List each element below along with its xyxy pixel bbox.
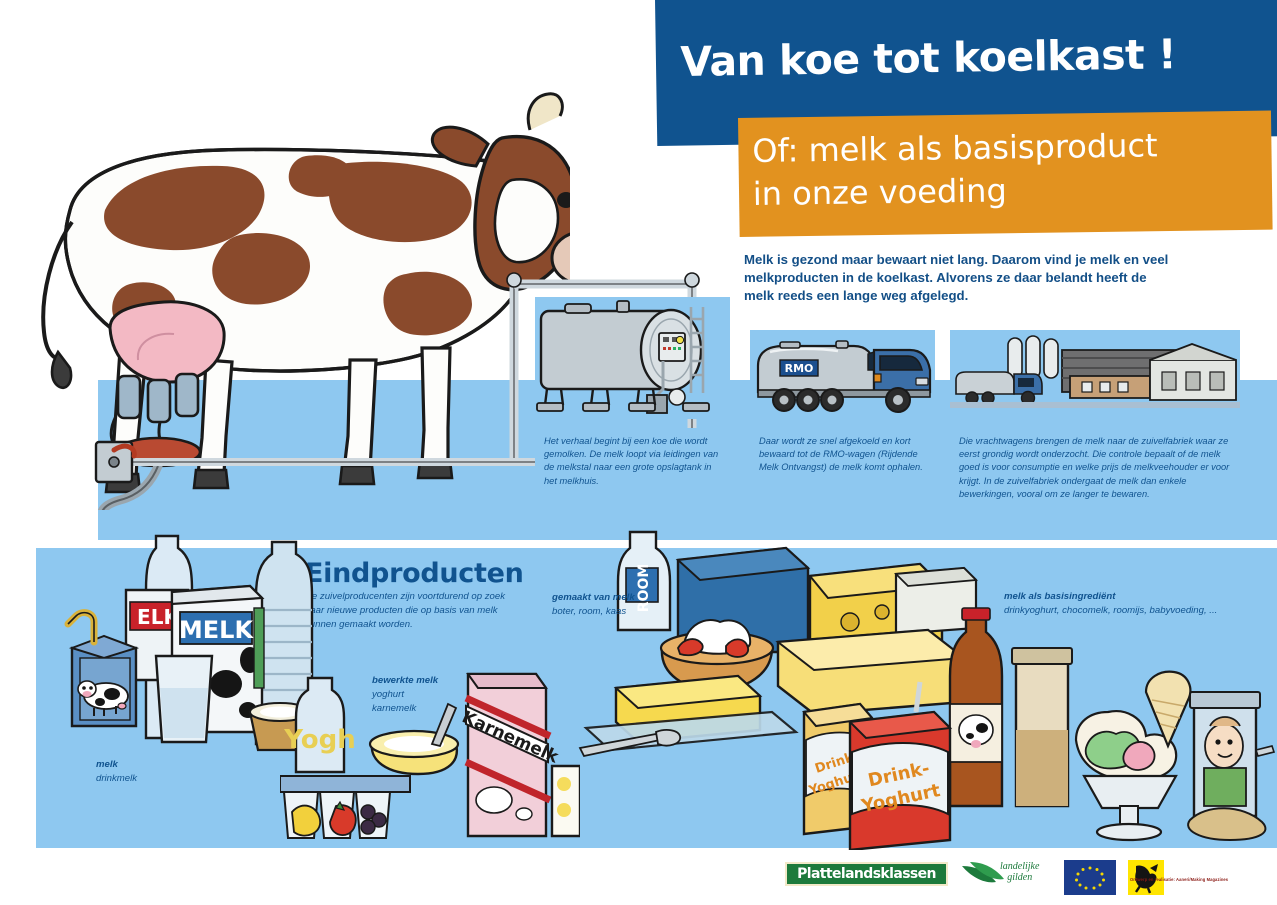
category-melk: melk drinkmelk	[96, 758, 137, 786]
landelijke-gilden-line2: gilden	[1000, 873, 1039, 884]
category-melk-items: drinkmelk	[96, 773, 137, 784]
storage-tank-image	[535, 297, 730, 419]
dairy-factory-image	[950, 330, 1240, 419]
process-step-2-caption: Daar wordt ze snel afgekoeld en kort bew…	[750, 428, 935, 492]
logo-landelijke-gilden[interactable]: landelijke gilden	[960, 860, 1052, 888]
bottle-label-room: ROOM	[636, 564, 652, 613]
category-bewerkte-melk-item2: karnemelk	[372, 703, 416, 714]
page-subtitle: Of: melk als basisproduct in onze voedin…	[752, 123, 1273, 216]
page-title: Van koe tot koelkast !	[680, 29, 1277, 86]
category-melk-title: melk	[96, 758, 137, 772]
eu-stars-icon	[1064, 860, 1116, 895]
basis-ingredient-illustration: Drink- Yoghurt Drink- Yoghurt	[790, 600, 1277, 850]
category-bewerkte-melk-title: bewerkte melk	[372, 674, 438, 688]
category-gemaakt-van-melk-items: boter, room, kaas	[552, 606, 626, 617]
carton-label-melk: MELK	[179, 616, 255, 644]
process-arrow-2-icon	[936, 440, 949, 478]
landelijke-gilden-line1: landelijke	[1000, 862, 1039, 873]
process-arrow-3-icon	[1068, 508, 1112, 534]
category-basisingredient: melk als basisingrediënt drinkyoghurt, c…	[1004, 590, 1244, 618]
process-arrow-1-icon	[731, 440, 749, 478]
page-subtitle-line1: Of: melk als basisproduct	[752, 123, 1273, 173]
rmo-truck-image: RMO	[750, 330, 935, 419]
process-step-1-caption: Het verhaal begint bij een koe die wordt…	[535, 428, 730, 492]
jar-label-yoghurt: Yogh	[283, 725, 355, 755]
category-bewerkte-melk: bewerkte melk yoghurt karnemelk	[372, 674, 438, 716]
design-credit: Ontwerp en realisatie: Aaneri/Making Mag…	[1130, 877, 1275, 882]
svg-text:RMO: RMO	[785, 362, 814, 375]
category-gemaakt-van-melk: gemaakt van melk boter, room, kaas	[552, 591, 635, 619]
page-subtitle-line2: in onze voeding	[753, 166, 1274, 216]
category-basisingredient-items: drinkyoghurt, chocomelk, roomijs, babyvo…	[1004, 605, 1217, 616]
category-bewerkte-melk-item1: yoghurt	[372, 689, 404, 700]
intro-paragraph: Melk is gezond maar bewaart niet lang. D…	[744, 251, 1176, 305]
logo-plattelandsklassen[interactable]: Plattelandsklassen	[785, 862, 948, 886]
logo-european-union[interactable]	[1064, 860, 1116, 895]
category-gemaakt-van-melk-title: gemaakt van melk	[552, 591, 635, 605]
category-basisingredient-title: melk als basisingrediënt	[1004, 590, 1244, 604]
landelijke-gilden-text: landelijke gilden	[1000, 862, 1039, 883]
process-step-3-caption: Die vrachtwagens brengen de melk naar de…	[950, 428, 1240, 504]
